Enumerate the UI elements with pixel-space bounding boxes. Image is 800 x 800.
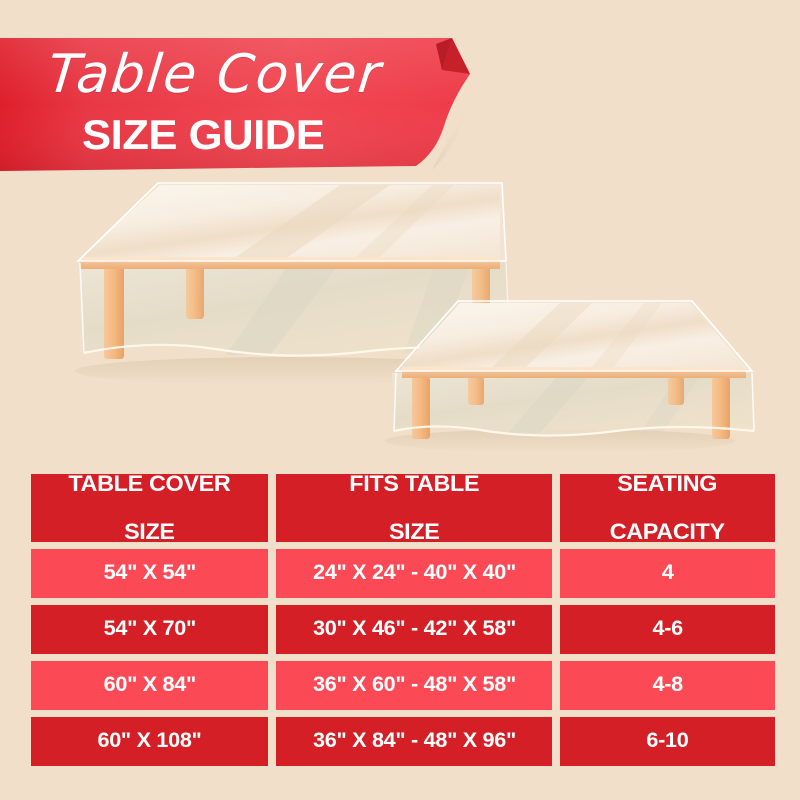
seating-capacity-value: 6-10 (647, 730, 689, 753)
small-table-leg-back-right (668, 377, 684, 405)
cover-size-value: 54" X 54" (104, 562, 196, 585)
table-header-row: TABLE COVER SIZE FITS TABLE SIZE SEATING… (31, 474, 775, 542)
header-line-1: SEATING (610, 474, 725, 496)
cell-cover-size: 60" X 84" (31, 661, 268, 710)
cover-size-value: 54" X 70" (104, 618, 196, 641)
banner-body-sheen (0, 38, 470, 171)
large-cover-top-outline (78, 183, 506, 261)
small-table-group (385, 301, 754, 453)
tables-illustration-svg (40, 175, 760, 460)
header-line-1: TABLE COVER (69, 474, 231, 496)
cell-seating-capacity: 4 (560, 549, 775, 598)
cell-seating-capacity: 4-8 (560, 661, 775, 710)
seating-capacity-value: 4 (662, 562, 674, 585)
cell-fits-table-size: 36" X 84" - 48" X 96" (276, 717, 552, 766)
header-cell-fits-table-size: FITS TABLE SIZE (276, 474, 552, 542)
table-row: 60" X 84" 36" X 60" - 48" X 58" 4-8 (31, 661, 775, 710)
small-cover-top-outline (396, 301, 752, 371)
cover-size-value: 60" X 84" (104, 674, 196, 697)
size-guide-table: TABLE COVER SIZE FITS TABLE SIZE SEATING… (31, 474, 775, 773)
banner-ribbon-shape (0, 30, 500, 180)
large-table-leg-front-left (104, 267, 124, 359)
cell-fits-table-size: 30" X 46" - 42" X 58" (276, 605, 552, 654)
fits-table-size-value: 30" X 46" - 42" X 58" (313, 618, 516, 641)
cell-seating-capacity: 4-6 (560, 605, 775, 654)
table-cover-illustration (40, 175, 760, 460)
small-table-leg-back-left (468, 377, 484, 405)
cell-fits-table-size: 24" X 24" - 40" X 40" (276, 549, 552, 598)
cell-seating-capacity: 6-10 (560, 717, 775, 766)
title-banner: Table Cover SIZE GUIDE (0, 30, 500, 180)
cell-cover-size: 54" X 54" (31, 549, 268, 598)
fits-table-size-value: 36" X 60" - 48" X 58" (313, 674, 516, 697)
cell-cover-size: 60" X 108" (31, 717, 268, 766)
header-line-2: SIZE (69, 520, 231, 542)
header-line-1: FITS TABLE (349, 474, 479, 496)
seating-capacity-value: 4-6 (653, 618, 683, 641)
table-row: 54" X 54" 24" X 24" - 40" X 40" 4 (31, 549, 775, 598)
header-line-2: SIZE (349, 520, 479, 542)
seating-capacity-value: 4-8 (653, 674, 683, 697)
fits-table-size-value: 24" X 24" - 40" X 40" (313, 562, 516, 585)
cover-size-value: 60" X 108" (98, 730, 202, 753)
header-cell-table-cover-size: TABLE COVER SIZE (31, 474, 268, 542)
cell-cover-size: 54" X 70" (31, 605, 268, 654)
header-line-2: CAPACITY (610, 520, 725, 542)
infographic-canvas: Table Cover SIZE GUIDE (0, 0, 800, 800)
small-table-leg-front-left (412, 377, 430, 439)
table-row: 54" X 70" 30" X 46" - 42" X 58" 4-6 (31, 605, 775, 654)
header-cell-seating-capacity: SEATING CAPACITY (560, 474, 775, 542)
table-row: 60" X 108" 36" X 84" - 48" X 96" 6-10 (31, 717, 775, 766)
cell-fits-table-size: 36" X 60" - 48" X 58" (276, 661, 552, 710)
fits-table-size-value: 36" X 84" - 48" X 96" (313, 730, 516, 753)
large-table-leg-back-left (186, 267, 204, 319)
